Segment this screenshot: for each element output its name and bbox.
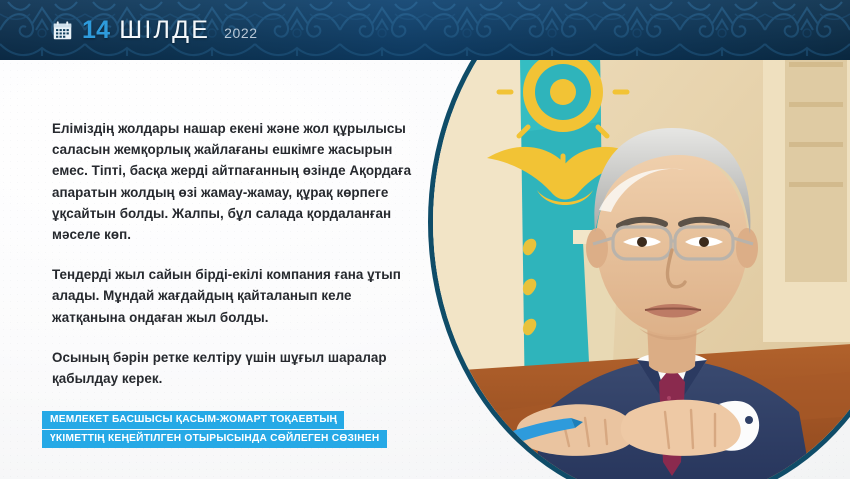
- date-month: ШІЛДЕ: [119, 16, 210, 45]
- portrait-photo-image: [433, 0, 850, 479]
- quote-paragraph-2: Тендерді жыл сайын бірді-екілі компания …: [52, 264, 424, 328]
- calendar-icon: [52, 20, 73, 41]
- header-bar: 14 ШІЛДЕ 2022: [0, 0, 850, 60]
- date-year: 2022: [224, 19, 258, 41]
- quote-text: Еліміздің жолдары нашар екені және жол қ…: [52, 118, 424, 389]
- portrait-photo: [433, 0, 850, 479]
- quote-paragraph-1: Еліміздің жолдары нашар екені және жол қ…: [52, 118, 424, 245]
- caption-line-2: ҮКІМЕТТІҢ КЕҢЕЙТІЛГЕН ОТЫРЫСЫНДА СӨЙЛЕГЕ…: [42, 430, 387, 448]
- date-day: 14: [82, 16, 110, 45]
- caption-line-1: МЕМЛЕКЕТ БАСШЫСЫ ҚАСЫМ-ЖОМАРТ ТОҚАЕВТЫҢ: [42, 411, 344, 429]
- quote-card: 14 ШІЛДЕ 2022: [0, 0, 850, 479]
- quote-paragraph-3: Осының бәрін ретке келтіру үшін шұғыл ша…: [52, 347, 424, 389]
- source-caption: МЕМЛЕКЕТ БАСШЫСЫ ҚАСЫМ-ЖОМАРТ ТОҚАЕВТЫҢ …: [42, 411, 387, 448]
- header-date-group: 14 ШІЛДЕ 2022: [52, 0, 258, 60]
